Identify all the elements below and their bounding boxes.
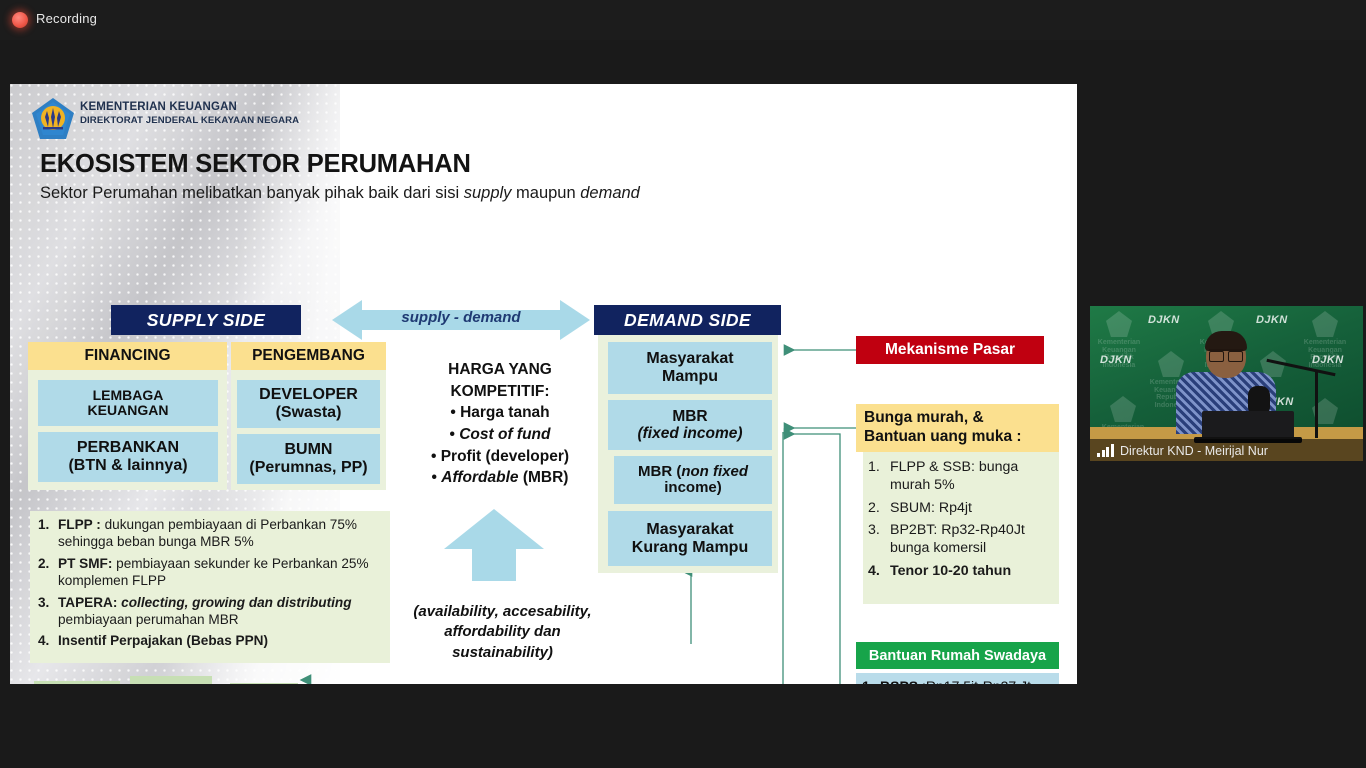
laptop — [1202, 411, 1294, 439]
slide-subtitle: Sektor Perumahan melibatkan banyak pihak… — [40, 184, 640, 203]
up-arrow-icon — [444, 509, 544, 581]
demand-side-header: DEMAND SIDE — [594, 305, 781, 335]
slide-subtitle-supply: supply — [464, 184, 512, 202]
video-participant-tile[interactable]: DJKN DJKN DJKN DJKN DJKN DJKN Kementeria… — [1090, 306, 1363, 461]
box-masyarakat-kurang-mampu[interactable]: MasyarakatKurang Mampu — [608, 511, 772, 566]
pengembang-header: PENGEMBANG — [231, 342, 386, 370]
box-developer-text: DEVELOPER(Swasta) — [259, 386, 358, 421]
slide-subtitle-a: Sektor Perumahan melibatkan banyak pihak… — [40, 184, 464, 202]
glasses-icon — [1209, 349, 1243, 358]
kemenkeu-logo-icon — [31, 97, 75, 141]
availability-text: (availability, accesability, affordabili… — [400, 602, 605, 663]
org-title: KEMENTERIAN KEUANGAN — [80, 101, 237, 113]
bantuan-rumah-swadaya-header: Bantuan Rumah Swadaya — [856, 642, 1059, 669]
backdrop-djkn-text: DJKN — [1256, 314, 1288, 326]
person-hair — [1205, 331, 1247, 351]
chip-land-bank[interactable]: LANDBANK — [130, 676, 212, 684]
list-item: 4.Insentif Perpajakan (Bebas PPN) — [38, 632, 390, 649]
box-masyarakat-mampu[interactable]: MasyarakatMampu — [608, 342, 772, 394]
supply-side-header: SUPPLY SIDE — [111, 305, 301, 335]
harga-heading-line2: KOMPETITIF: — [410, 381, 590, 403]
box-bumn[interactable]: BUMN(Perumnas, PP) — [237, 434, 380, 484]
org-subtitle: DIREKTORAT JENDERAL KEKAYAAN NEGARA — [80, 115, 299, 126]
mekanisme-pasar-badge[interactable]: Mekanisme Pasar — [856, 336, 1044, 364]
box-lembaga-keuangan-text: LEMBAGAKEUANGAN — [88, 388, 169, 419]
harga-bullet-3: • Profit (developer) — [410, 446, 590, 468]
list-item: 4.Tenor 10-20 tahun — [868, 563, 1060, 581]
backdrop-djkn-text: DJKN — [1148, 314, 1180, 326]
harga-bullet-1: • Harga tanah — [410, 402, 590, 424]
bunga-murah-header: Bunga murah, & Bantuan uang muka : — [856, 404, 1059, 452]
list-item: 1.FLPP & SSB: bunga murah 5% — [868, 459, 1060, 495]
recording-indicator-icon — [12, 12, 28, 28]
box-perbankan[interactable]: PERBANKAN(BTN & lainnya) — [38, 432, 218, 482]
harga-kompetitif-block: HARGA YANG KOMPETITIF: • Harga tanah • C… — [410, 359, 590, 489]
presentation-slide[interactable]: KEMENTERIAN KEUANGAN DIREKTORAT JENDERAL… — [10, 84, 1077, 684]
box-perbankan-text: PERBANKAN(BTN & lainnya) — [68, 439, 187, 474]
list-item: 1.FLPP : dukungan pembiayaan di Perbanka… — [38, 516, 390, 551]
list-item: 3.TAPERA: collecting, growing dan distri… — [38, 594, 390, 629]
harga-bullet-4: • Affordable (MBR) — [410, 467, 590, 489]
list-item: 3.BP2BT: Rp32-Rp40Jt bunga komersil — [868, 522, 1060, 558]
audio-level-icon — [1097, 444, 1114, 457]
slide-subtitle-c: maupun — [511, 184, 580, 202]
bunga-murah-header-line1: Bunga murah, & — [864, 408, 1053, 427]
list-item: 2.SBUM: Rp4jt — [868, 500, 1060, 518]
box-lembaga-keuangan[interactable]: LEMBAGAKEUANGAN — [38, 380, 218, 426]
slide-subtitle-demand: demand — [580, 184, 640, 202]
slide-title: EKOSISTEM SEKTOR PERUMAHAN — [40, 150, 471, 179]
list-item: 2.PT SMF: pembiayaan sekunder ke Perbank… — [38, 555, 390, 590]
box-developer[interactable]: DEVELOPER(Swasta) — [237, 380, 380, 428]
bantuan-rumah-swadaya-list: 1.BSPS :Rp17,5jt-Rp37 Jt 2.DAKF: Rp20-50… — [862, 677, 1062, 684]
supply-demand-label: supply - demand — [332, 309, 590, 326]
recording-bar: Recording — [0, 0, 1366, 40]
video-participant-name: Direktur KND - Meirijal Nur — [1120, 444, 1268, 458]
list-item: 1.BSPS :Rp17,5jt-Rp37 Jt — [862, 677, 1062, 684]
box-bumn-text: BUMN(Perumnas, PP) — [249, 441, 367, 476]
chip-bp3[interactable]: BP3 — [230, 683, 298, 684]
backdrop-caption: Kementerian KeuanganRepublik Indonesia — [1299, 339, 1351, 370]
chip-land-line1: LAND — [140, 682, 183, 684]
screen: Recording KEMENTERIAN KEUANGAN DIREKTORA… — [0, 0, 1366, 768]
recording-label: Recording — [36, 11, 97, 26]
harga-heading-line1: HARGA YANG — [410, 359, 590, 381]
chip-pmn-bumn[interactable]: PMNBUMN — [34, 681, 120, 684]
harga-bullet-2: • Cost of fund — [410, 424, 590, 446]
supply-notes-list: 1.FLPP : dukungan pembiayaan di Perbanka… — [38, 516, 390, 654]
mic-stand — [1315, 372, 1318, 438]
bunga-murah-header-line2: Bantuan uang muka : — [864, 427, 1053, 446]
financing-header: FINANCING — [28, 342, 227, 370]
box-mbr-fixed-income[interactable]: MBR(fixed income) — [608, 400, 772, 450]
box-mbr-non-fixed-income[interactable]: MBR (non fixedincome) — [614, 456, 772, 504]
bunga-murah-list: 1.FLPP & SSB: bunga murah 5% 2.SBUM: Rp4… — [868, 459, 1060, 586]
backdrop-caption: Kementerian KeuanganRepublik Indonesia — [1093, 339, 1145, 370]
